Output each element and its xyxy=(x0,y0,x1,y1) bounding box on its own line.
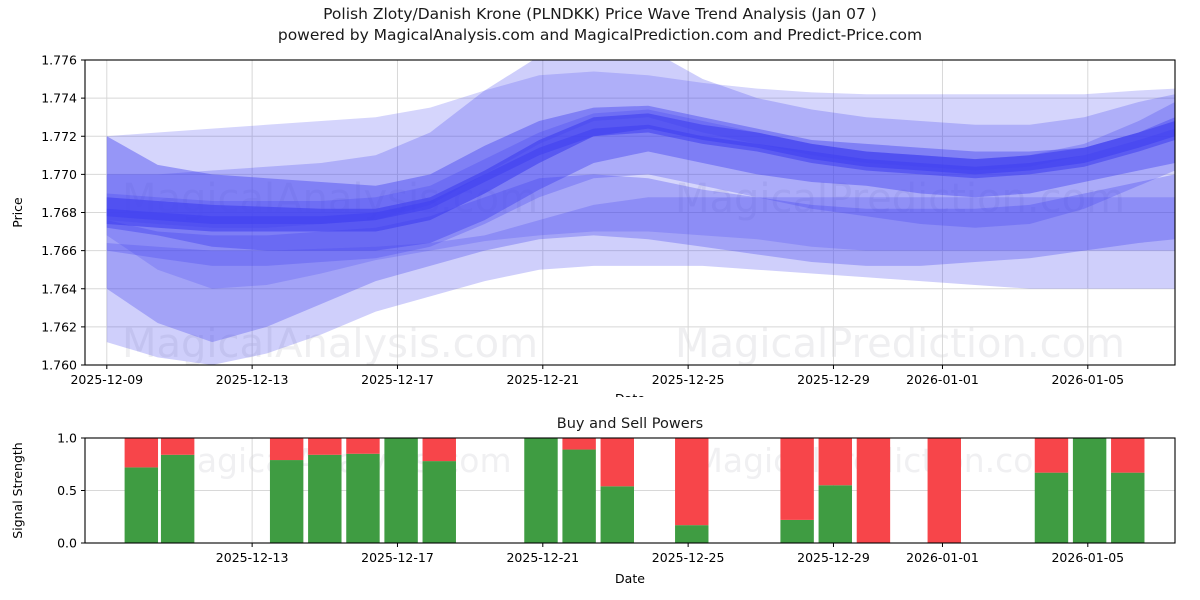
buy-bar-segment[interactable] xyxy=(562,450,595,543)
sell-bar-segment[interactable] xyxy=(928,438,961,543)
svg-text:2025-12-25: 2025-12-25 xyxy=(652,550,725,565)
sell-bar-segment[interactable] xyxy=(601,438,634,486)
sell-bar-segment[interactable] xyxy=(308,438,341,455)
svg-text:2025-12-13: 2025-12-13 xyxy=(216,550,289,565)
x-axis-label: Date xyxy=(615,391,645,397)
svg-text:2025-12-29: 2025-12-29 xyxy=(797,550,870,565)
page-subtitle: powered by MagicalAnalysis.com and Magic… xyxy=(0,25,1200,46)
y-axis-label: Signal Strength xyxy=(10,442,25,538)
svg-text:1.772: 1.772 xyxy=(41,129,77,144)
svg-text:2026-01-05: 2026-01-05 xyxy=(1051,372,1124,387)
buy-bar-segment[interactable] xyxy=(384,438,417,543)
svg-text:1.768: 1.768 xyxy=(41,205,77,220)
svg-text:2025-12-13: 2025-12-13 xyxy=(216,372,289,387)
svg-text:2026-01-05: 2026-01-05 xyxy=(1051,550,1124,565)
svg-text:2025-12-17: 2025-12-17 xyxy=(361,372,434,387)
svg-text:1.0: 1.0 xyxy=(57,431,77,446)
svg-text:2025-12-29: 2025-12-29 xyxy=(797,372,870,387)
buy-bar-segment[interactable] xyxy=(601,486,634,543)
buy-bar-segment[interactable] xyxy=(308,455,341,543)
buy-bar-segment[interactable] xyxy=(819,485,852,543)
svg-text:0.5: 0.5 xyxy=(57,483,77,498)
buy-bar-segment[interactable] xyxy=(780,520,813,543)
buy-sell-powers-chart: Buy and Sell PowersMagicalAnalysis.comMa… xyxy=(0,410,1200,600)
svg-text:2025-12-09: 2025-12-09 xyxy=(70,372,143,387)
subchart-title: Buy and Sell Powers xyxy=(557,416,703,432)
svg-text:1.770: 1.770 xyxy=(41,167,77,182)
svg-text:1.774: 1.774 xyxy=(41,91,77,106)
sell-bar-segment[interactable] xyxy=(1111,438,1144,473)
sell-bar-segment[interactable] xyxy=(161,438,194,455)
svg-text:2026-01-01: 2026-01-01 xyxy=(906,372,979,387)
price-wave-chart: MagicalAnalysis.comMagicalPrediction.com… xyxy=(0,52,1200,397)
svg-text:1.776: 1.776 xyxy=(41,53,77,68)
svg-text:2026-01-01: 2026-01-01 xyxy=(906,550,979,565)
sell-bar-segment[interactable] xyxy=(819,438,852,485)
sell-bar-segment[interactable] xyxy=(562,438,595,450)
sell-bar-segment[interactable] xyxy=(346,438,379,454)
buy-bar-segment[interactable] xyxy=(270,460,303,543)
svg-text:0.0: 0.0 xyxy=(57,536,77,551)
buy-bar-segment[interactable] xyxy=(161,455,194,543)
buy-bar-segment[interactable] xyxy=(346,454,379,543)
sell-bar-segment[interactable] xyxy=(125,438,158,467)
y-axis-label: Price xyxy=(10,197,25,228)
buy-bar-segment[interactable] xyxy=(1035,473,1068,543)
title-block: Polish Zloty/Danish Krone (PLNDKK) Price… xyxy=(0,4,1200,46)
svg-text:1.764: 1.764 xyxy=(41,281,77,296)
x-axis-label: Date xyxy=(615,571,645,586)
svg-text:2025-12-17: 2025-12-17 xyxy=(361,550,434,565)
sell-bar-segment[interactable] xyxy=(857,438,890,543)
sell-bar-segment[interactable] xyxy=(780,438,813,520)
buy-bar-segment[interactable] xyxy=(524,438,557,543)
sell-bar-segment[interactable] xyxy=(675,438,708,525)
buy-bar-segment[interactable] xyxy=(423,461,456,543)
buy-bar-segment[interactable] xyxy=(675,525,708,543)
buy-bar-segment[interactable] xyxy=(1073,438,1106,543)
buy-bar-segment[interactable] xyxy=(125,467,158,543)
svg-text:1.760: 1.760 xyxy=(41,358,77,373)
svg-text:1.762: 1.762 xyxy=(41,319,77,334)
svg-text:2025-12-21: 2025-12-21 xyxy=(506,550,579,565)
svg-text:MagicalPrediction.com: MagicalPrediction.com xyxy=(675,321,1125,367)
buy-bar-segment[interactable] xyxy=(1111,473,1144,543)
svg-text:1.766: 1.766 xyxy=(41,243,77,258)
chart-page: Polish Zloty/Danish Krone (PLNDKK) Price… xyxy=(0,0,1200,600)
svg-text:2025-12-21: 2025-12-21 xyxy=(506,372,579,387)
sell-bar-segment[interactable] xyxy=(270,438,303,460)
sell-bar-segment[interactable] xyxy=(423,438,456,461)
page-title: Polish Zloty/Danish Krone (PLNDKK) Price… xyxy=(0,4,1200,25)
sell-bar-segment[interactable] xyxy=(1035,438,1068,473)
svg-text:2025-12-25: 2025-12-25 xyxy=(652,372,725,387)
